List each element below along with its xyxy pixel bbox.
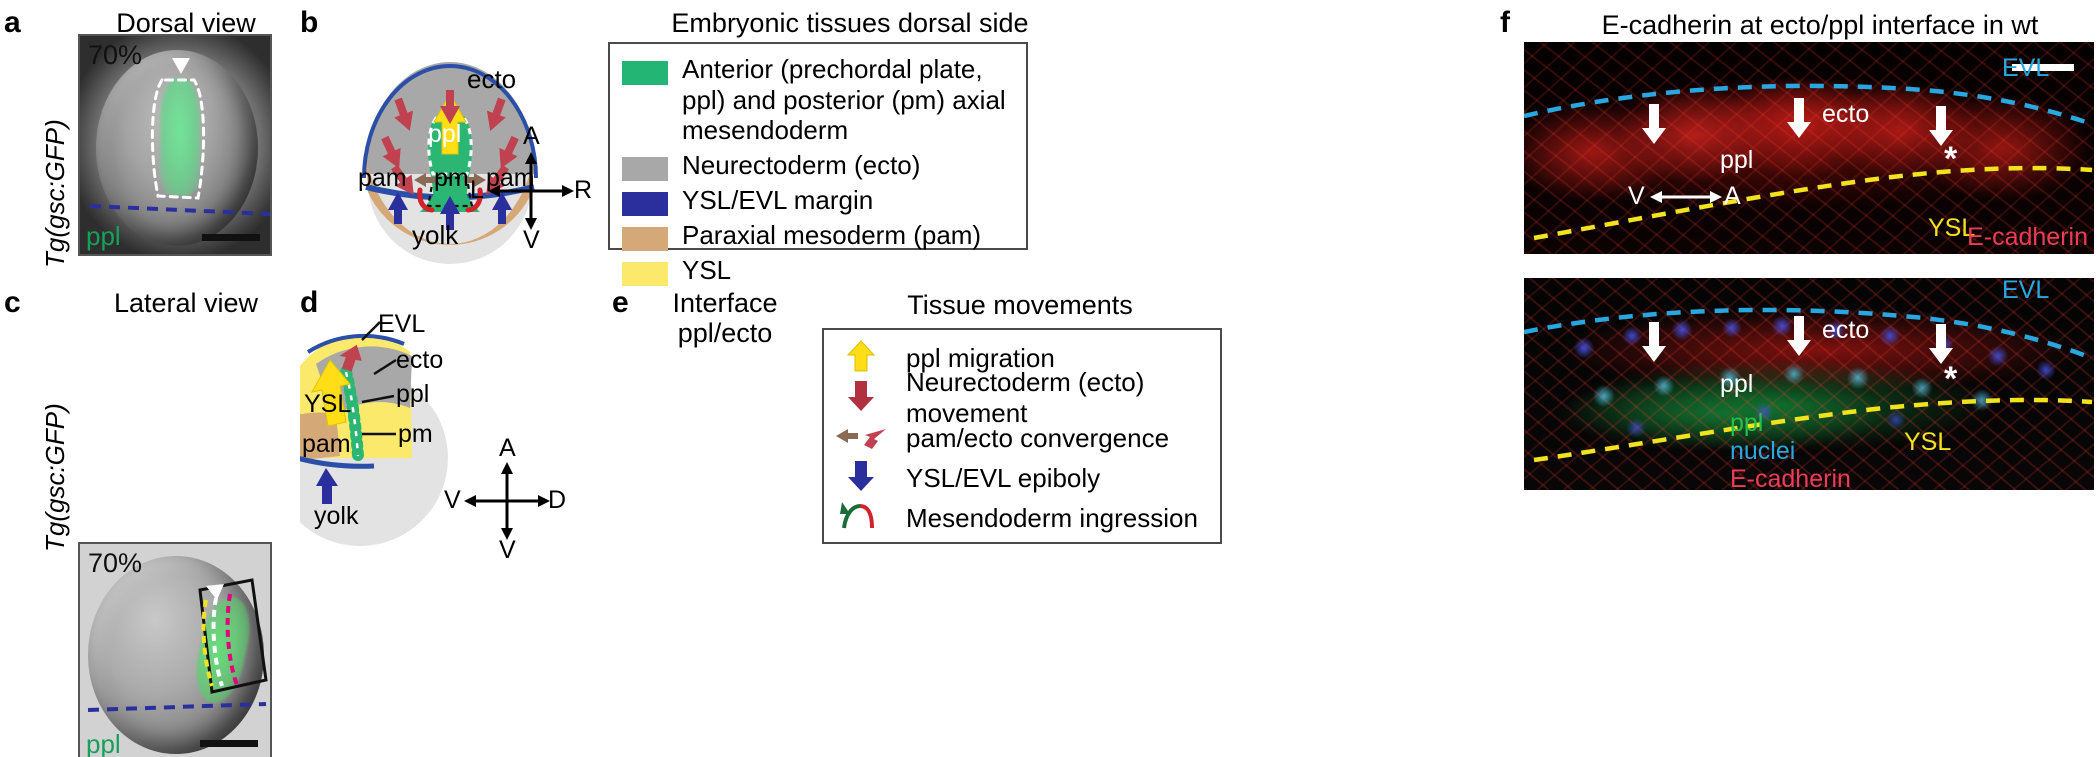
- legend-swatch-pam: [622, 227, 668, 251]
- legend-move-label-ecto-movement: Neurectoderm (ecto) movement: [906, 367, 1210, 428]
- panel-f-channel-ppl: ppl: [1730, 409, 1763, 438]
- panel-d-label-evl: EVL: [378, 310, 425, 339]
- panel-a-stage-label: 70%: [88, 40, 142, 71]
- panel-c-image: ppl 70%: [78, 542, 272, 757]
- panel-f-top-axis-V: V: [1628, 182, 1645, 211]
- arrow-down-red-icon: [834, 379, 888, 418]
- panel-f-bottom-label-ppl: ppl: [1720, 370, 1753, 399]
- arrow-up-yellow-icon: [834, 339, 888, 378]
- panel-f-top-label-evl: EVL: [2002, 54, 2049, 83]
- legend-tissues-title: Embryonic tissues dorsal side: [640, 8, 1060, 38]
- legend-label-ppl: Anterior (prechordal plate, ppl) and pos…: [682, 54, 1014, 146]
- panel-a-ppl-label: ppl: [86, 221, 121, 252]
- legend-label-ysl-evl: YSL/EVL margin: [682, 185, 873, 216]
- panel-letter-e: e: [612, 288, 629, 318]
- panel-f-channel-nuclei: nuclei: [1730, 437, 1795, 466]
- panel-a-side-label-wrap: Tg(gsc:GFP): [0, 60, 58, 260]
- legend-item-ecto: Neurectoderm (ecto): [622, 150, 1014, 181]
- legend-item-ysl-evl: YSL/EVL margin: [622, 185, 1014, 216]
- panel-d-compass-D: D: [548, 486, 566, 515]
- legend-item-ysl: YSL: [622, 255, 1014, 286]
- panel-d-label-ppl: ppl: [396, 380, 429, 409]
- panel-f-top-axis: V A: [1630, 180, 1750, 214]
- panel-f-top-label-ecto: ecto: [1822, 100, 1869, 129]
- panel-f-bottom-label-ecto: ecto: [1822, 316, 1869, 345]
- panel-f-bottom-label-evl: EVL: [2002, 278, 2049, 305]
- legend-swatch-ecto: [622, 157, 668, 181]
- panel-e-title-line1: Interface: [640, 288, 810, 318]
- panel-letter-f: f: [1500, 8, 1510, 38]
- legend-move-label-epiboly: YSL/EVL epiboly: [906, 463, 1100, 494]
- panel-f-bottom-label-ysl: YSL: [1904, 428, 1951, 457]
- panel-d-compass-V-bottom: V: [499, 536, 516, 565]
- panel-f-bottom-overlays: [1524, 278, 2094, 490]
- panel-b-label-yolk: yolk: [412, 220, 458, 251]
- panel-d-compass-A: A: [499, 434, 516, 463]
- panel-d-label-pm: pm: [398, 420, 433, 449]
- panel-letter-c: c: [4, 288, 21, 318]
- panel-b-label-ecto: ecto: [467, 64, 516, 95]
- panel-f-top-image: EVL ecto ppl * YSL E-cadherin V A: [1524, 42, 2094, 254]
- legend-move-item-epiboly: YSL/EVL epiboly: [834, 458, 1210, 498]
- panel-d-label-ecto: ecto: [396, 346, 443, 375]
- panel-c-title: Lateral view: [66, 288, 306, 318]
- legend-swatch-ysl-evl: [622, 192, 668, 216]
- hook-arrow-icon: [834, 500, 888, 537]
- legend-label-ysl: YSL: [682, 255, 731, 286]
- legend-label-ecto: Neurectoderm (ecto): [682, 150, 920, 181]
- legend-movements-box: ppl migration Neurectoderm (ecto) moveme…: [822, 328, 1222, 544]
- panel-f-bottom-image: EVL ecto ppl * YSL ppl nuclei E-cadherin: [1524, 278, 2094, 490]
- panel-c-side-label-wrap: Tg(gsc:GFP): [0, 346, 58, 546]
- panel-b-compass-A: A: [523, 122, 540, 151]
- panel-c-ppl-label: ppl: [86, 729, 121, 757]
- panel-c-genotype-label: Tg(gsc:GFP): [40, 403, 71, 552]
- legend-move-item-convergence: pam/ecto convergence: [834, 418, 1210, 458]
- panel-a-genotype-label: Tg(gsc:GFP): [40, 119, 71, 268]
- panel-letter-d: d: [300, 288, 318, 318]
- panel-b-label-pm: pm: [434, 164, 469, 193]
- panel-b-compass-L: L: [470, 176, 484, 205]
- panel-d-label-pam: pam: [302, 430, 351, 459]
- panel-e-title: Interface ppl/ecto: [640, 288, 810, 348]
- panel-f-title: E-cadherin at ecto/ppl interface in wt: [1560, 10, 2080, 41]
- panel-b-label-ppl: ppl: [428, 120, 461, 149]
- panel-a-image: ppl 70%: [78, 34, 272, 256]
- legend-label-pam: Paraxial mesoderm (pam): [682, 220, 981, 251]
- legend-movements-title: Tissue movements: [820, 290, 1220, 320]
- arrows-converge-icon: [834, 421, 888, 456]
- panel-b-compass: A V L R: [476, 136, 586, 248]
- panel-f-top-label-ppl: ppl: [1720, 146, 1753, 175]
- arrow-down-blue-icon: [834, 459, 888, 498]
- legend-tissues-box: Anterior (prechordal plate, ppl) and pos…: [608, 42, 1028, 250]
- legend-item-pam: Paraxial mesoderm (pam): [622, 220, 1014, 251]
- panel-b-compass-V: V: [523, 226, 540, 255]
- legend-item-ppl: Anterior (prechordal plate, ppl) and pos…: [622, 54, 1014, 146]
- panel-b-label-pam-left: pam: [358, 164, 407, 193]
- panel-f-top-label-ecadherin: E-cadherin: [1967, 223, 2088, 252]
- panel-letter-a: a: [4, 8, 21, 38]
- figure-root: a Dorsal view Tg(gsc:GFP) ppl 70% b: [0, 0, 2100, 757]
- legend-swatch-ysl: [622, 262, 668, 286]
- panel-f-channel-ecadherin: E-cadherin: [1730, 465, 1851, 490]
- panel-d-label-yolk: yolk: [314, 502, 358, 531]
- panel-f-top-asterisk: *: [1944, 142, 1957, 176]
- legend-move-item-ingression: Mesendoderm ingression: [834, 498, 1210, 538]
- legend-move-label-ingression: Mesendoderm ingression: [906, 503, 1198, 534]
- panel-b-compass-R: R: [574, 176, 592, 205]
- panel-c-stage-label: 70%: [88, 548, 142, 579]
- panel-d-compass: A V V D: [452, 448, 562, 560]
- panel-e-title-line2: ppl/ecto: [640, 318, 810, 348]
- legend-swatch-ppl: [622, 61, 668, 85]
- panel-d-label-ysl: YSL: [304, 390, 351, 419]
- panel-f-top-axis-A: A: [1724, 182, 1741, 211]
- panel-f-bottom-asterisk: *: [1944, 362, 1957, 396]
- legend-move-item-ecto-movement: Neurectoderm (ecto) movement: [834, 378, 1210, 418]
- panel-d-compass-V-left: V: [444, 486, 461, 515]
- legend-move-label-convergence: pam/ecto convergence: [906, 423, 1169, 454]
